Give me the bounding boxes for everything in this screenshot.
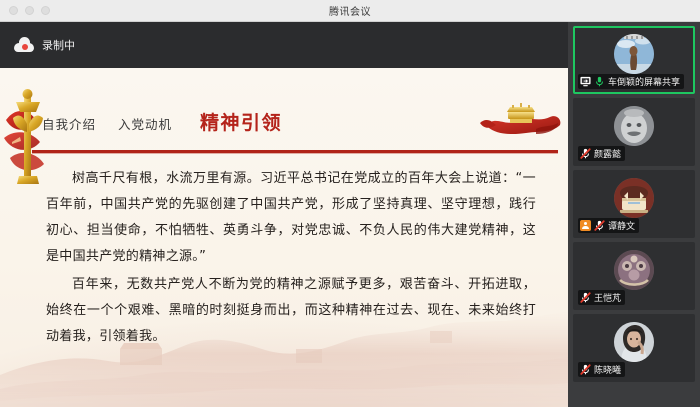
mic-muted-icon — [580, 292, 591, 303]
mic-on-icon — [594, 76, 605, 87]
slide-header: 自我介绍 入党动机 精神引领 — [0, 84, 568, 146]
participant-namebar: 王恺芃 — [578, 290, 625, 305]
slide-nav: 自我介绍 入党动机 精神引领 — [42, 108, 282, 135]
slide-body: 树高千尺有根，水流万里有源。习近平总书记在党成立的百年大会上说道：“一百年前，中… — [46, 166, 536, 352]
participants-rail[interactable]: 车倒颖的屏幕共享 — [568, 22, 700, 407]
red-ribbon-tiananmen-icon — [478, 101, 564, 139]
cloud-record-icon — [14, 38, 34, 52]
participant-namebar: 陈晓曦 — [578, 362, 625, 377]
nav-item-motivation[interactable]: 入党动机 — [118, 114, 172, 133]
participant-tile[interactable]: 陈晓曦 — [573, 314, 695, 382]
participant-tile[interactable]: 车倒颖的屏幕共享 — [573, 26, 695, 94]
meeting-stage: 录制中 — [0, 22, 568, 407]
participant-namebar: 谭静文 — [578, 218, 639, 233]
recording-label: 录制中 — [42, 37, 75, 53]
avatar — [614, 106, 654, 146]
participant-namebar: 车倒颖的屏幕共享 — [578, 74, 684, 89]
participant-tile[interactable]: 谭静文 — [573, 170, 695, 238]
window-title: 腾讯会议 — [0, 3, 700, 18]
participant-tile[interactable]: 王恺芃 — [573, 242, 695, 310]
avatar — [614, 178, 654, 218]
nav-item-self-intro[interactable]: 自我介绍 — [42, 114, 96, 133]
participant-tile[interactable]: 颜露懿 — [573, 98, 695, 166]
window-titlebar: 腾讯会议 — [0, 0, 700, 22]
host-badge-icon — [580, 220, 591, 231]
participant-name: 车倒颖的屏幕共享 — [608, 75, 680, 88]
avatar — [614, 34, 654, 74]
participant-name: 谭静文 — [608, 219, 635, 232]
slide-paragraph-1: 树高千尺有根，水流万里有源。习近平总书记在党成立的百年大会上说道：“一百年前，中… — [46, 166, 536, 270]
tencent-meeting-window: 腾讯会议 录制中 — [0, 0, 700, 407]
header-divider-soft — [32, 153, 558, 154]
recording-indicator: 录制中 — [0, 22, 568, 68]
participant-namebar: 颜露懿 — [578, 146, 625, 161]
nav-item-spirit-guidance[interactable]: 精神引领 — [200, 108, 282, 135]
mic-muted-icon — [594, 220, 605, 231]
participant-name: 陈晓曦 — [594, 363, 621, 376]
mic-muted-icon — [580, 364, 591, 375]
avatar — [614, 250, 654, 290]
participant-name: 王恺芃 — [594, 291, 621, 304]
participant-name: 颜露懿 — [594, 147, 621, 160]
screen-share-icon — [580, 76, 591, 87]
mic-muted-icon — [580, 148, 591, 159]
slide-paragraph-2: 百年来，无数共产党人不断为党的精神之源赋予更多，艰苦奋斗、开拓进取，始终在一个个… — [46, 272, 536, 350]
shared-slide[interactable]: 自我介绍 入党动机 精神引领 — [0, 68, 568, 407]
avatar — [614, 322, 654, 362]
